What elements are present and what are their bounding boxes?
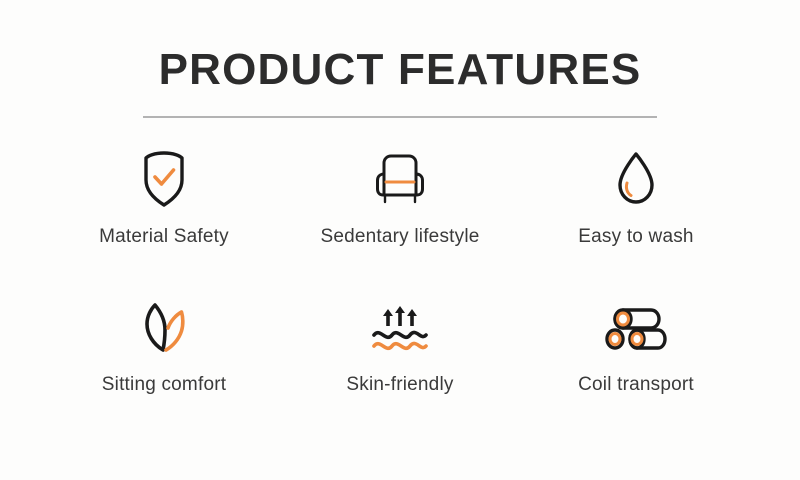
feature-label: Sedentary lifestyle — [320, 226, 479, 249]
feature-item-skin-friendly: Skin-friendly — [282, 300, 518, 452]
title-divider — [143, 116, 657, 118]
armchair-icon — [371, 151, 429, 207]
icon-container — [603, 300, 669, 358]
water-droplet-icon — [614, 149, 658, 209]
feature-label: Easy to wash — [578, 226, 693, 249]
feature-label: Skin-friendly — [346, 374, 453, 397]
header: PRODUCT FEATURES — [0, 0, 800, 118]
feature-item-coil-transport: Coil transport — [518, 300, 754, 452]
icon-container — [138, 148, 190, 210]
feature-item-sedentary-lifestyle: Sedentary lifestyle — [282, 148, 518, 300]
feature-item-material-safety: Material Safety — [46, 148, 282, 300]
feature-label: Material Safety — [99, 226, 229, 249]
icon-container — [368, 300, 432, 358]
product-features-panel: PRODUCT FEATURES Material Safety — [0, 0, 800, 480]
stacked-coils-icon — [603, 302, 669, 356]
feature-label: Sitting comfort — [102, 374, 226, 397]
feature-item-sitting-comfort: Sitting comfort — [46, 300, 282, 452]
feature-label: Coil transport — [578, 374, 694, 397]
two-leaves-icon — [133, 302, 195, 356]
icon-container — [133, 300, 195, 358]
page-title: PRODUCT FEATURES — [0, 48, 800, 92]
features-grid: Material Safety Sedentary lifesty — [0, 148, 800, 452]
icon-container — [371, 148, 429, 210]
shield-check-icon — [138, 149, 190, 209]
feature-item-easy-to-wash: Easy to wash — [518, 148, 754, 300]
breathable-waves-arrows-icon — [368, 303, 432, 355]
icon-container — [614, 148, 658, 210]
